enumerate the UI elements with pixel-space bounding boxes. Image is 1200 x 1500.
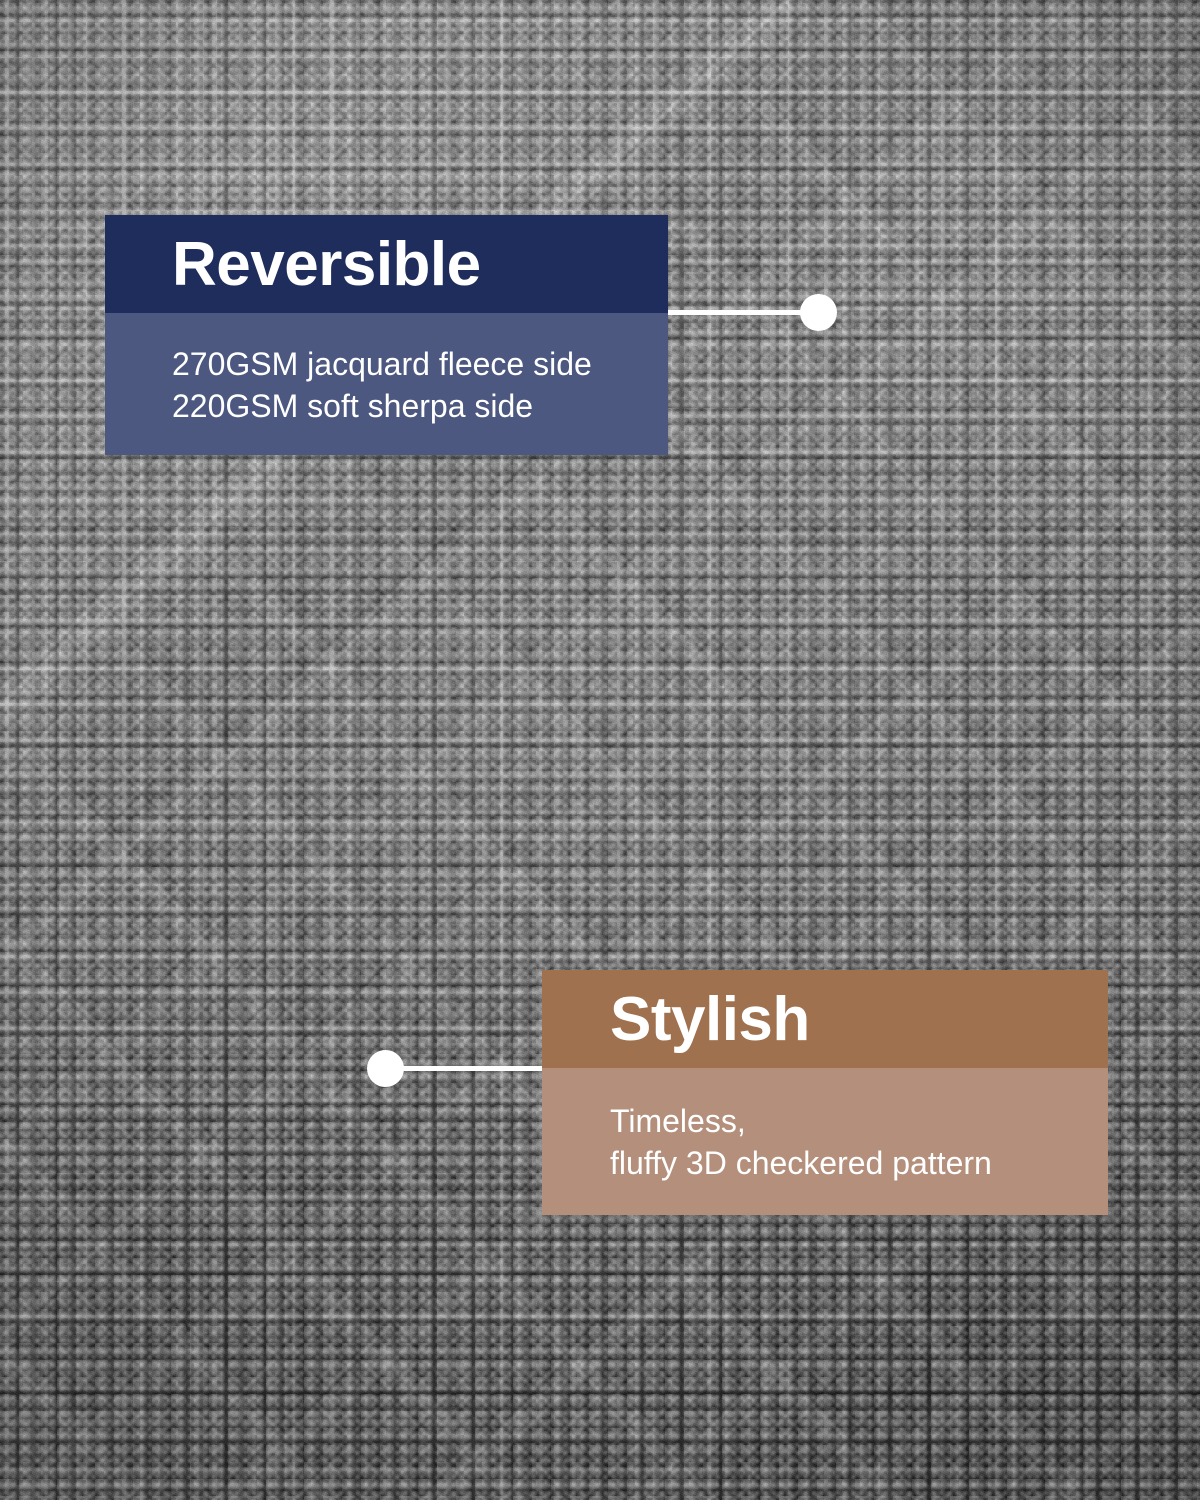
callout-stylish: Stylish Timeless, fluffy 3D checkered pa…	[542, 970, 1108, 1215]
callout-reversible: Reversible 270GSM jacquard fleece side 2…	[105, 215, 668, 455]
callout-stylish-title: Stylish	[542, 970, 1108, 1068]
callout-stylish-body: Timeless, fluffy 3D checkered pattern	[542, 1068, 1108, 1215]
callout-reversible-title: Reversible	[105, 215, 668, 313]
callout-reversible-body: 270GSM jacquard fleece side 220GSM soft …	[105, 313, 668, 455]
leader-dot-stylish	[367, 1050, 404, 1087]
leader-dot-reversible	[800, 294, 837, 331]
leader-line-reversible	[668, 310, 820, 315]
product-feature-image: Reversible 270GSM jacquard fleece side 2…	[0, 0, 1200, 1500]
leader-line-stylish	[385, 1066, 543, 1071]
